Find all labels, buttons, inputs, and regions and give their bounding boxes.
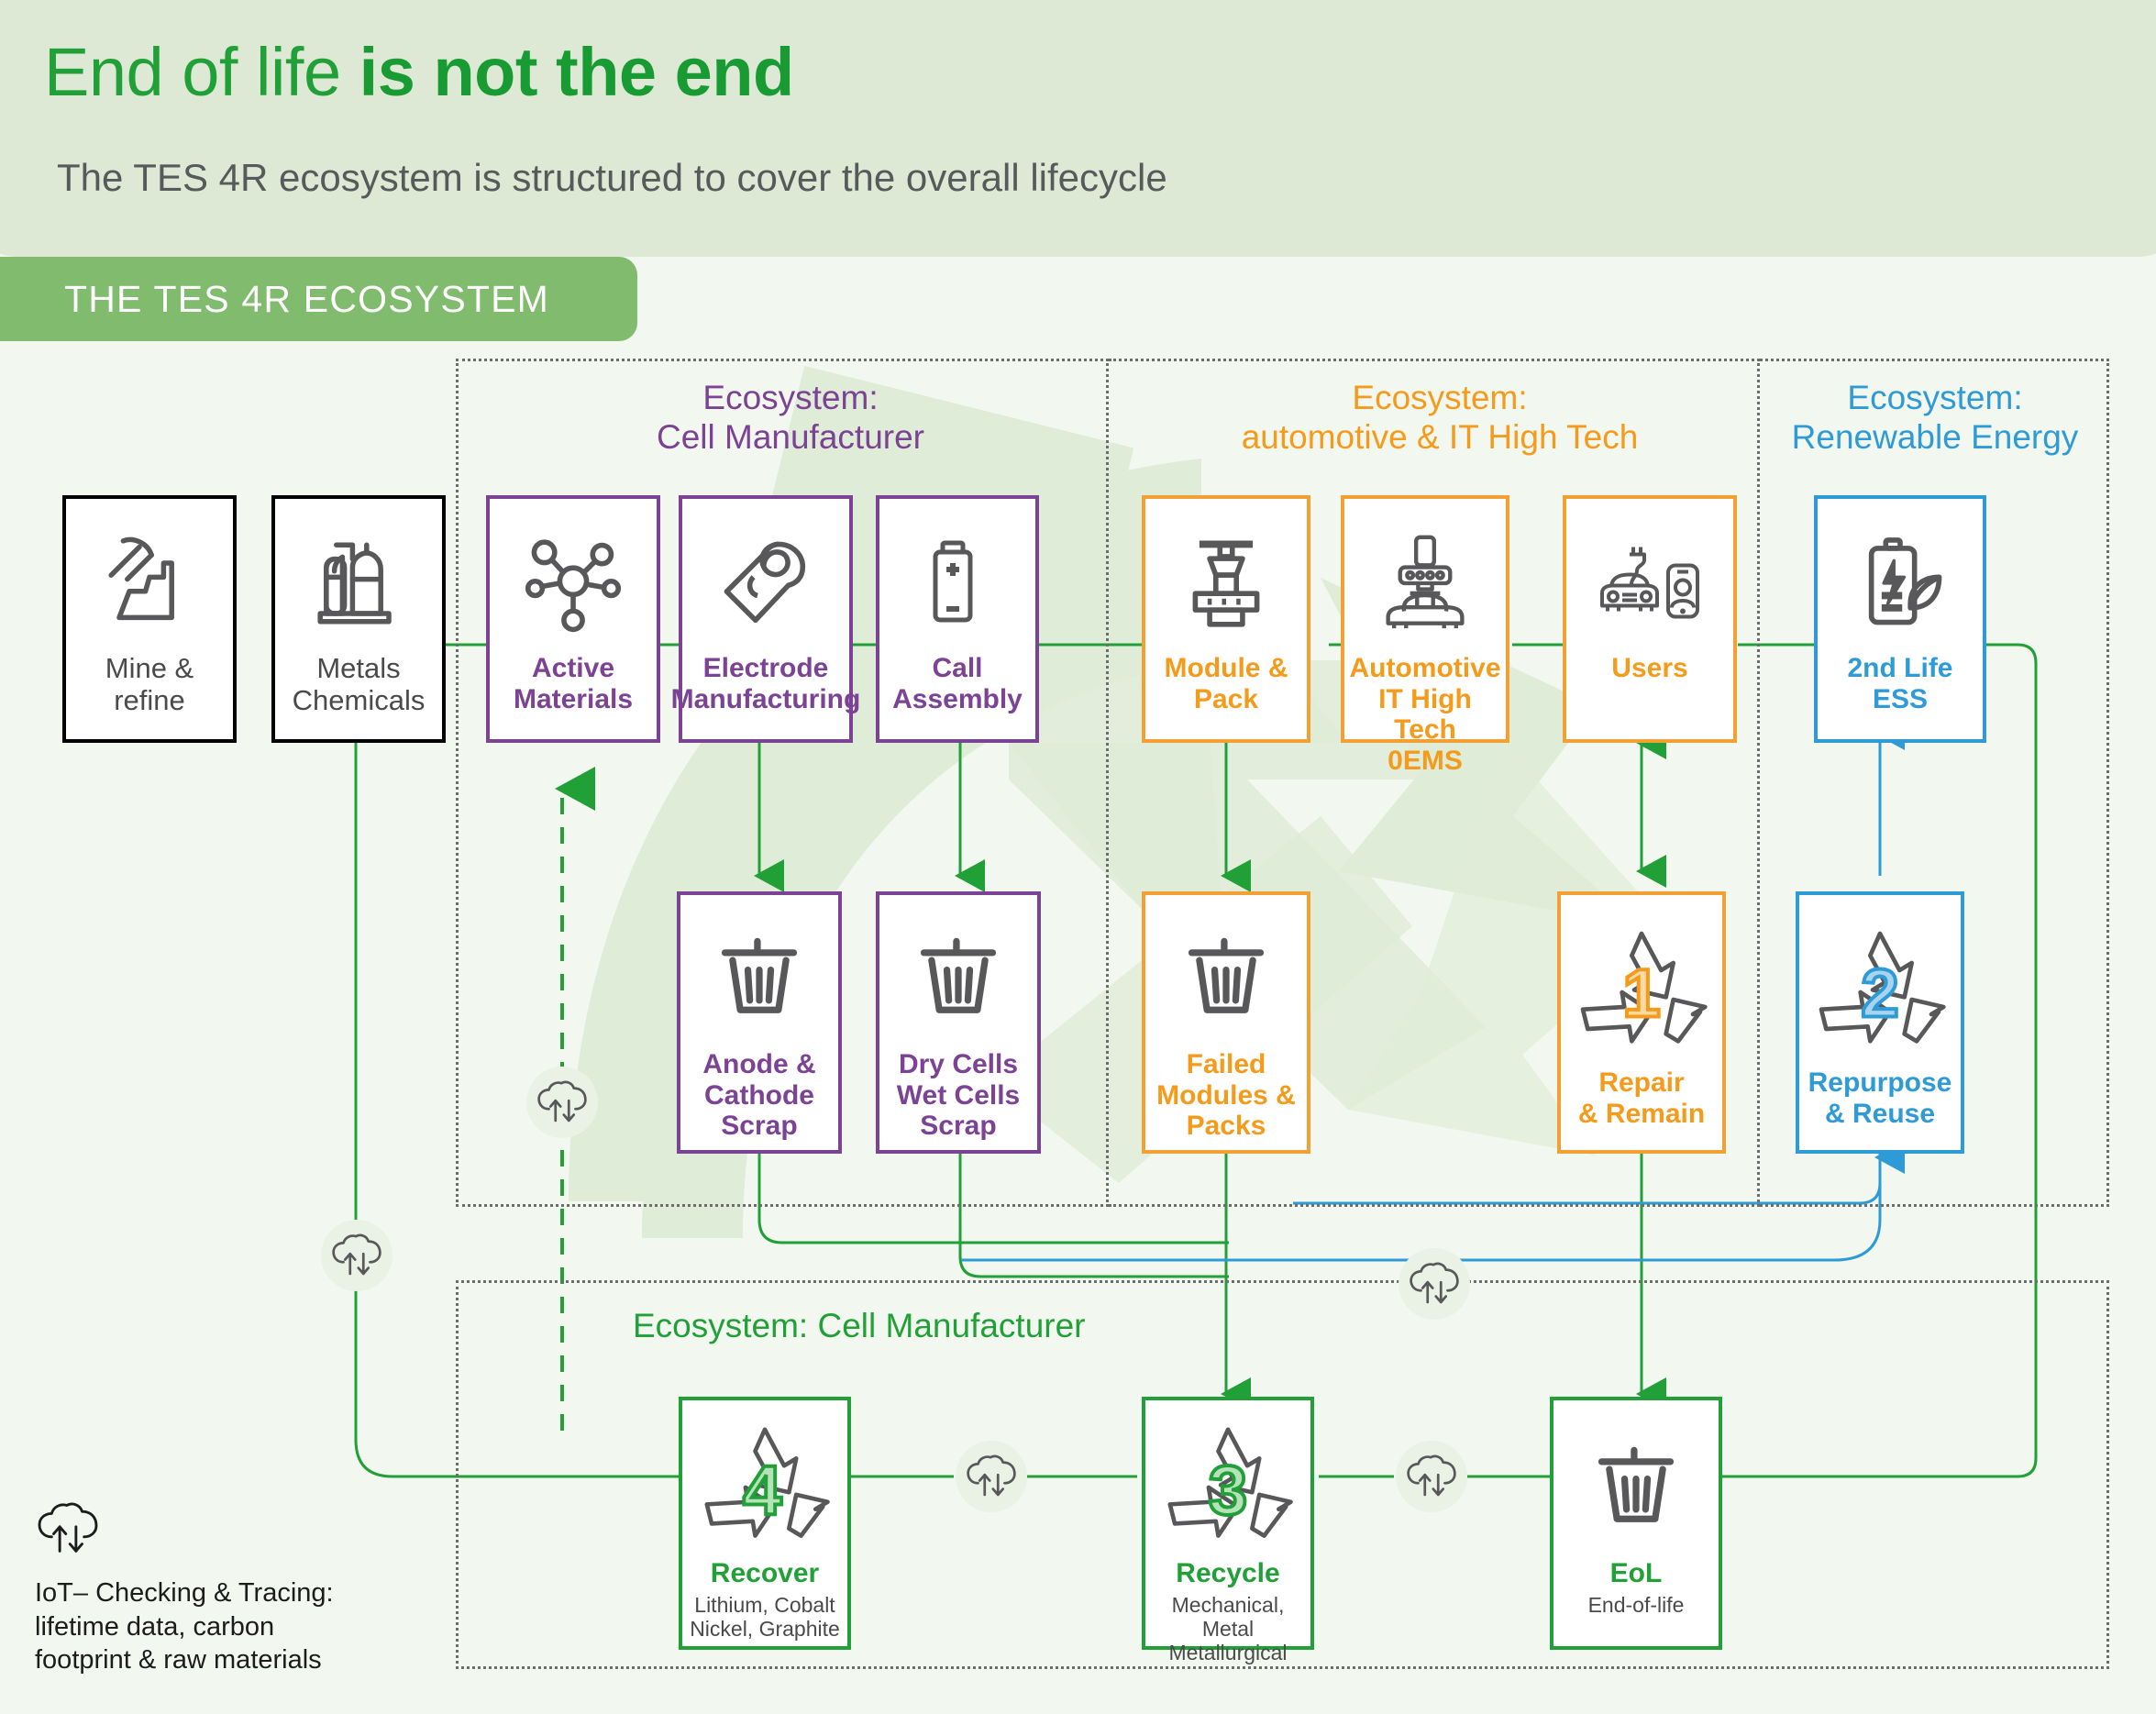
node-label: Module & Pack bbox=[1165, 653, 1288, 714]
node-label: Active Materials bbox=[514, 653, 633, 714]
page-title-bold: is not the end bbox=[359, 34, 794, 110]
node-label: Recover bbox=[711, 1558, 819, 1589]
node-label: Repurpose & Reuse bbox=[1808, 1067, 1952, 1129]
battery-icon bbox=[902, 519, 1012, 647]
group-title-cell-manufacturer-bottom: Ecosystem: Cell Manufacturer bbox=[633, 1306, 1110, 1345]
node-automotive-oems[interactable]: Automotive IT High Tech 0EMS bbox=[1341, 495, 1509, 743]
node-active-materials[interactable]: Active Materials bbox=[486, 495, 660, 743]
node-eol[interactable]: EoL End-of-life bbox=[1550, 1397, 1722, 1650]
node-failed-modules-packs[interactable]: Failed Modules & Packs bbox=[1142, 891, 1310, 1154]
recycle-number-icon: 4 bbox=[687, 1415, 843, 1553]
node-recover[interactable]: 4 Recover Lithium, Cobalt Nickel, Graphi… bbox=[679, 1397, 851, 1650]
node-label: Recycle bbox=[1176, 1558, 1279, 1589]
iot-cloud-badge bbox=[321, 1220, 393, 1291]
iot-legend-text: IoT– Checking & Tracing: lifetime data, … bbox=[35, 1576, 402, 1677]
battery-leaf-icon bbox=[1845, 519, 1955, 647]
node-electrode-manufacturing[interactable]: Electrode Manufacturing bbox=[679, 495, 853, 743]
node-metals-chemicals[interactable]: Metals Chemicals bbox=[271, 495, 446, 743]
node-label: Call Assembly bbox=[892, 653, 1023, 714]
ecosystem-chip-label: THE TES 4R ECOSYSTEM bbox=[64, 278, 549, 321]
node-sublabel: Mechanical, Metal Metallurgical bbox=[1145, 1593, 1310, 1665]
node-label: Dry Cells Wet Cells Scrap bbox=[897, 1049, 1021, 1142]
iot-cloud-badge bbox=[956, 1441, 1027, 1512]
node-recycle[interactable]: 3 Recycle Mechanical, Metal Metallurgica… bbox=[1142, 1397, 1314, 1650]
node-label: Repair & Remain bbox=[1578, 1067, 1705, 1129]
iot-cloud-badge bbox=[526, 1067, 598, 1138]
recycle-number: 2 bbox=[1861, 955, 1899, 1032]
node-repair-remain[interactable]: 1 Repair & Remain bbox=[1557, 891, 1726, 1154]
electrode-roll-icon bbox=[711, 519, 821, 647]
chemical-canisters-icon bbox=[304, 519, 414, 647]
group-title-automotive: Ecosystem: automotive & IT High Tech bbox=[1183, 378, 1697, 458]
node-dry-wet-cells-scrap[interactable]: Dry Cells Wet Cells Scrap bbox=[876, 891, 1041, 1154]
page-subtitle: The TES 4R ecosystem is structured to co… bbox=[57, 156, 1167, 200]
ecosystem-chip: THE TES 4R ECOSYSTEM bbox=[0, 257, 637, 341]
recycle-number: 1 bbox=[1622, 955, 1661, 1032]
node-cell-assembly[interactable]: Call Assembly bbox=[876, 495, 1039, 743]
node-module-pack[interactable]: Module & Pack bbox=[1142, 495, 1310, 743]
car-assembly-icon bbox=[1370, 519, 1480, 647]
trash-bin-icon bbox=[1171, 915, 1281, 1044]
node-label: Mine & refine bbox=[105, 653, 193, 716]
node-label: Electrode Manufacturing bbox=[671, 653, 861, 714]
assembly-robot-icon bbox=[1171, 519, 1281, 647]
node-label: Failed Modules & Packs bbox=[1156, 1049, 1296, 1142]
page-title-light: End of life bbox=[44, 34, 359, 110]
node-label: 2nd Life ESS bbox=[1847, 653, 1952, 714]
node-label: EoL bbox=[1610, 1558, 1663, 1589]
page-title: End of life is not the end bbox=[44, 33, 794, 111]
node-label: Automotive IT High Tech 0EMS bbox=[1344, 653, 1506, 776]
iot-legend: IoT– Checking & Tracing: lifetime data, … bbox=[35, 1500, 402, 1677]
node-sublabel: End-of-life bbox=[1588, 1593, 1685, 1617]
node-label: Anode & Cathode Scrap bbox=[702, 1049, 815, 1142]
node-users[interactable]: Users bbox=[1563, 495, 1737, 743]
recycle-number-icon: 3 bbox=[1150, 1415, 1306, 1553]
node-sublabel: Lithium, Cobalt Nickel, Graphite bbox=[690, 1593, 840, 1642]
node-repurpose-reuse[interactable]: 2 Repurpose & Reuse bbox=[1796, 891, 1964, 1154]
node-mine-refine[interactable]: Mine & refine bbox=[62, 495, 237, 743]
node-second-life-ess[interactable]: 2nd Life ESS bbox=[1814, 495, 1986, 743]
recycle-number-icon: 2 bbox=[1802, 915, 1958, 1062]
recycle-number-icon: 1 bbox=[1564, 915, 1719, 1062]
node-label: Metals Chemicals bbox=[293, 653, 426, 716]
recycle-number: 3 bbox=[1209, 1452, 1247, 1530]
group-title-renewable: Ecosystem: Renewable Energy bbox=[1770, 378, 2100, 458]
trash-bin-icon bbox=[1581, 1424, 1691, 1553]
ev-car-phone-icon bbox=[1595, 519, 1705, 647]
node-anode-cathode-scrap[interactable]: Anode & Cathode Scrap bbox=[677, 891, 842, 1154]
node-label: Users bbox=[1611, 653, 1687, 684]
trash-bin-icon bbox=[903, 915, 1013, 1044]
iot-cloud-badge bbox=[1399, 1248, 1470, 1320]
iot-cloud-badge bbox=[1396, 1441, 1467, 1512]
cloud-sync-icon bbox=[35, 1545, 101, 1561]
pickaxe-mine-icon bbox=[94, 519, 205, 647]
molecule-icon bbox=[518, 519, 628, 647]
recycle-number: 4 bbox=[743, 1452, 782, 1530]
trash-bin-icon bbox=[704, 915, 814, 1044]
group-title-cell-manufacturer: Ecosystem: Cell Manufacturer bbox=[561, 378, 1020, 458]
